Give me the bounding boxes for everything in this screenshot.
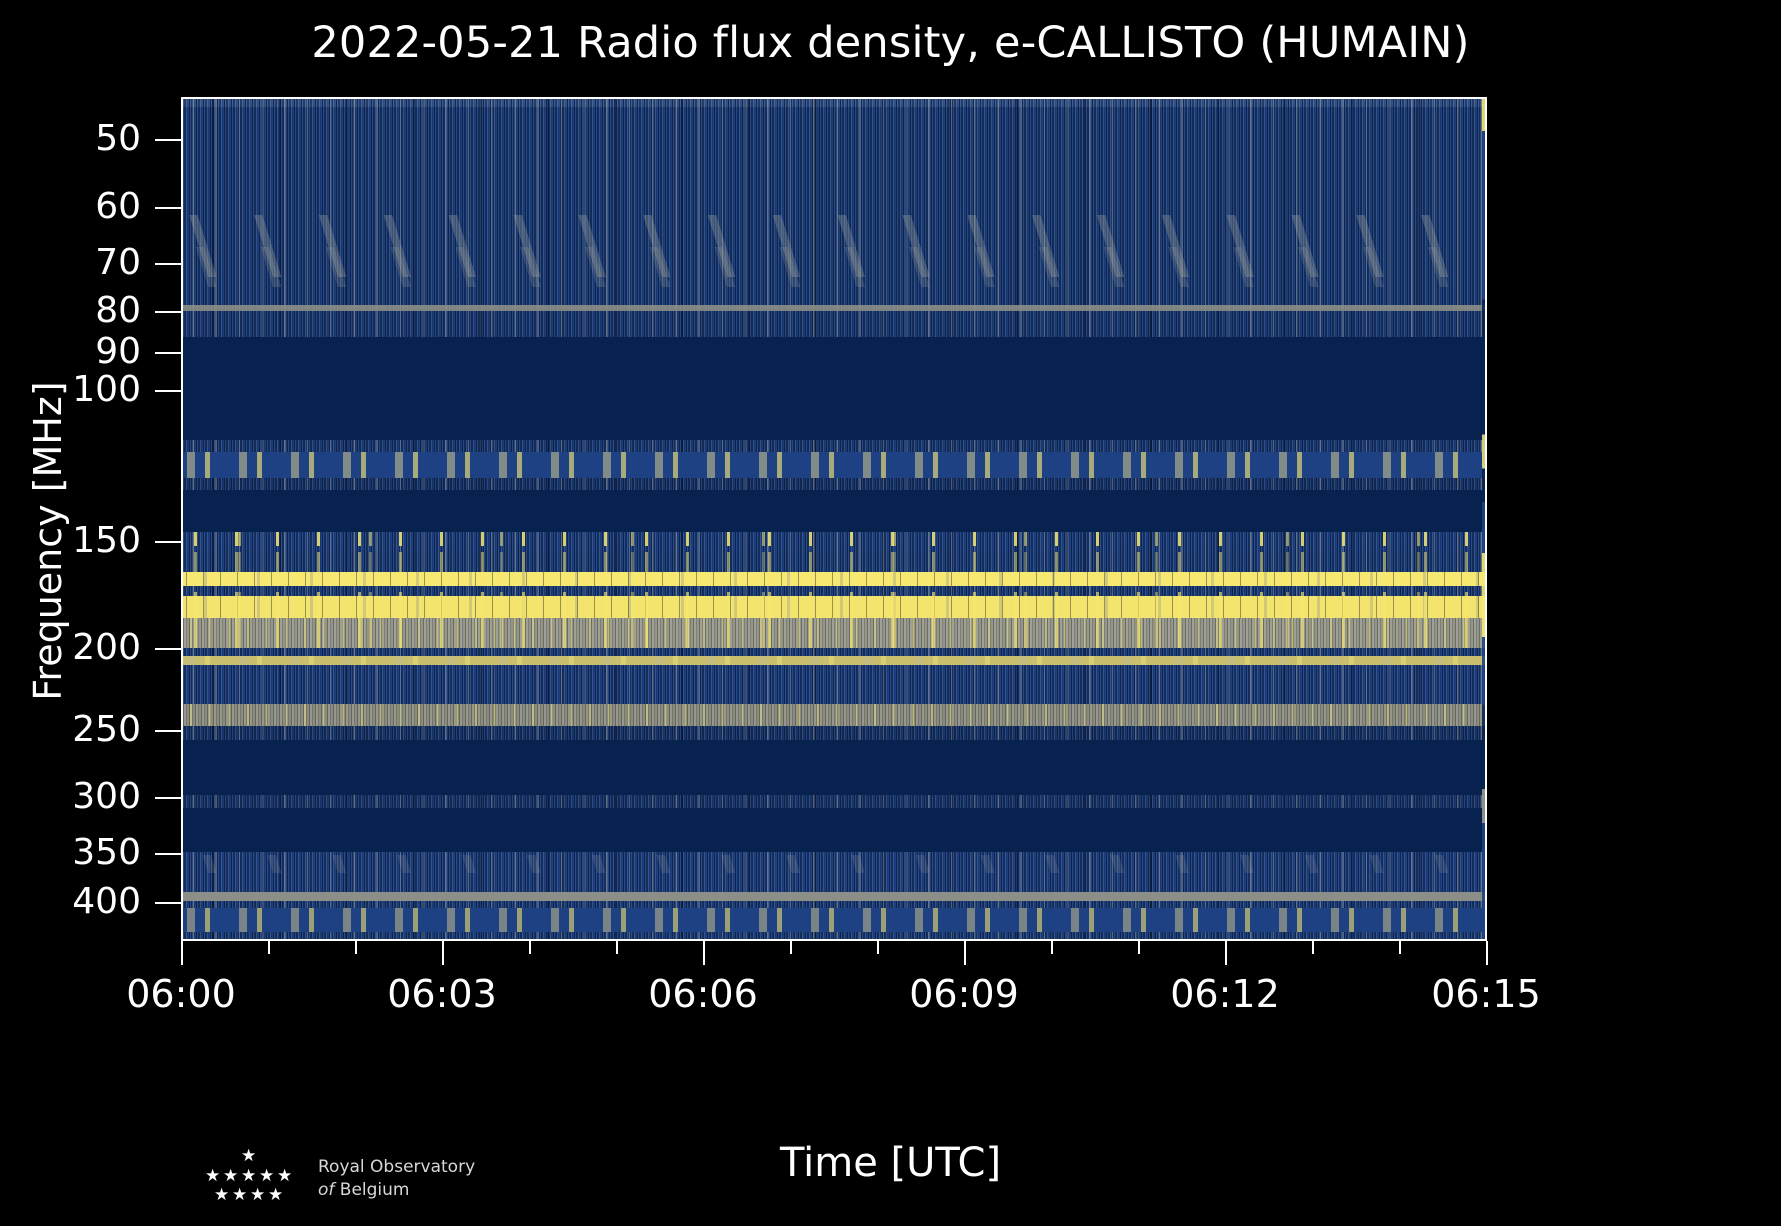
xtick-minor-0602 — [355, 941, 357, 954]
band-rfi-blocks-122 — [181, 452, 1487, 478]
ytick-label-100: 100 — [0, 369, 141, 410]
ytick-label-200: 200 — [0, 627, 141, 668]
xtick-0615 — [1486, 941, 1488, 965]
xtick-label-0615: 06:15 — [1376, 972, 1596, 1016]
band-rfi-patches-310 — [181, 908, 1487, 932]
xtick-0606 — [703, 941, 705, 965]
band-saturated-157 — [181, 572, 1487, 586]
band-spikes-154 — [181, 552, 1487, 572]
line-gray-300 — [181, 892, 1487, 901]
page-title: 2022-05-21 Radio flux density, e-CALLIST… — [0, 18, 1781, 68]
ytick-80 — [155, 311, 181, 313]
xtick-label-0606: 06:06 — [593, 972, 813, 1016]
xtick-minor-0608 — [877, 941, 879, 954]
xtick-minor-0614 — [1399, 941, 1401, 954]
ytick-100 — [155, 390, 181, 392]
line-dashed-188 — [181, 656, 1487, 665]
band-noise-118-121 — [181, 440, 1487, 452]
band-quiet-258-275 — [181, 808, 1487, 852]
credit-of: of — [318, 1180, 334, 1200]
xtick-minor-0613 — [1312, 941, 1314, 954]
credit-belgium: Belgium — [340, 1180, 410, 1200]
band-noise-126-130 — [181, 478, 1487, 490]
xtick-minor-0611 — [1138, 941, 1140, 954]
xtick-0612 — [1225, 941, 1227, 965]
xtick-label-0609: 06:09 — [854, 972, 1074, 1016]
line-gray-350 — [181, 940, 1487, 941]
band-gray-striations-285 — [181, 855, 1487, 873]
band-quiet-130-143 — [181, 490, 1487, 532]
ytick-label-90: 90 — [0, 331, 141, 372]
band-noise-185-187 — [181, 648, 1487, 656]
ytick-200 — [155, 648, 181, 650]
ytick-300 — [155, 797, 181, 799]
ytick-label-60: 60 — [0, 186, 141, 227]
ytick-350 — [155, 853, 181, 855]
spectrogram-figure: 2022-05-21 Radio flux density, e-CALLIST… — [0, 0, 1781, 1226]
xtick-minor-0607 — [790, 941, 792, 954]
ytick-label-300: 300 — [0, 776, 141, 817]
band-noise-80-85 — [181, 311, 1487, 337]
ytick-label-80: 80 — [0, 290, 141, 331]
royal-observatory-logo: ★ ★ ★ ★ ★ ★ ★ ★ ★ ★ Royal Observatory of… — [196, 1148, 616, 1210]
band-quiet-218-245 — [181, 740, 1487, 795]
line-faint-250 — [181, 795, 1487, 808]
xtick-0603 — [442, 941, 444, 965]
xtick-minor-0601 — [268, 941, 270, 954]
ytick-60 — [155, 207, 181, 209]
band-drift-striations-2 — [181, 247, 1487, 287]
ytick-label-400: 400 — [0, 881, 141, 922]
ytick-label-150: 150 — [0, 520, 141, 561]
spectrogram-canvas — [181, 97, 1487, 941]
band-quiet-85-118 — [181, 337, 1487, 440]
y-axis-label: Frequency [MHz] — [26, 321, 70, 761]
band-gray-205-215 — [181, 704, 1487, 726]
ytick-label-70: 70 — [0, 242, 141, 283]
xtick-label-0603: 06:03 — [332, 972, 552, 1016]
ytick-90 — [155, 352, 181, 354]
band-spikes-178 — [181, 618, 1487, 648]
ytick-150 — [155, 541, 181, 543]
credit-line-2: of Belgium — [318, 1179, 475, 1202]
xtick-minor-0610 — [1051, 941, 1053, 954]
column-edge-0615 — [1482, 97, 1487, 941]
xtick-label-0600: 06:00 — [71, 972, 291, 1016]
xtick-label-0612: 06:12 — [1115, 972, 1335, 1016]
credit-text: Royal Observatory of Belgium — [318, 1156, 475, 1202]
band-noise-215-218 — [181, 726, 1487, 740]
band-noise-303-306 — [181, 901, 1487, 908]
band-spikes-146 — [181, 532, 1487, 546]
ytick-label-50: 50 — [0, 118, 141, 159]
credit-line-1: Royal Observatory — [318, 1156, 475, 1179]
band-noise-192-205 — [181, 665, 1487, 704]
ytick-250 — [155, 730, 181, 732]
ytick-label-350: 350 — [0, 832, 141, 873]
xtick-minor-0605 — [616, 941, 618, 954]
ytick-400 — [155, 902, 181, 904]
band-top-edge — [181, 97, 1487, 107]
ytick-50 — [155, 139, 181, 141]
ytick-label-250: 250 — [0, 709, 141, 750]
xtick-0600 — [181, 941, 183, 965]
eu-stars-icon: ★ ★ ★ ★ ★ ★ ★ ★ ★ ★ — [196, 1148, 306, 1206]
xtick-0609 — [964, 941, 966, 965]
xtick-minor-0604 — [529, 941, 531, 954]
ytick-70 — [155, 263, 181, 265]
